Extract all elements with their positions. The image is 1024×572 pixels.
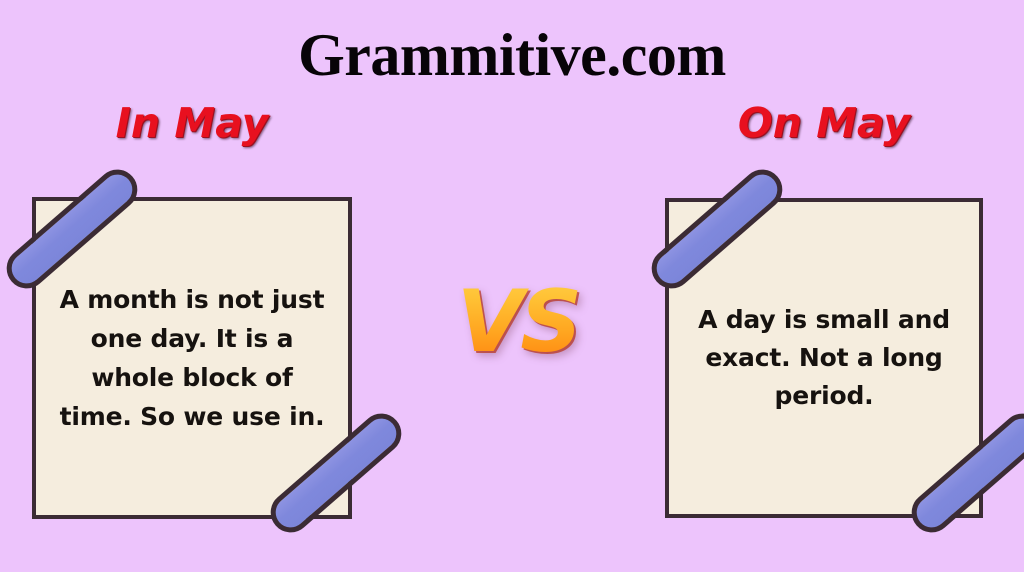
left-column-heading: In May	[32, 97, 352, 149]
versus-badge: VS	[428, 272, 608, 372]
infographic-canvas: Grammitive.com In May On May A month is …	[0, 0, 1024, 572]
right-card-text: A day is small and exact. Not a long per…	[688, 301, 961, 415]
left-card-text: A month is not just one day. It is a who…	[55, 280, 330, 436]
right-column-heading: On May	[664, 97, 984, 149]
page-title: Grammitive.com	[0, 22, 1024, 88]
